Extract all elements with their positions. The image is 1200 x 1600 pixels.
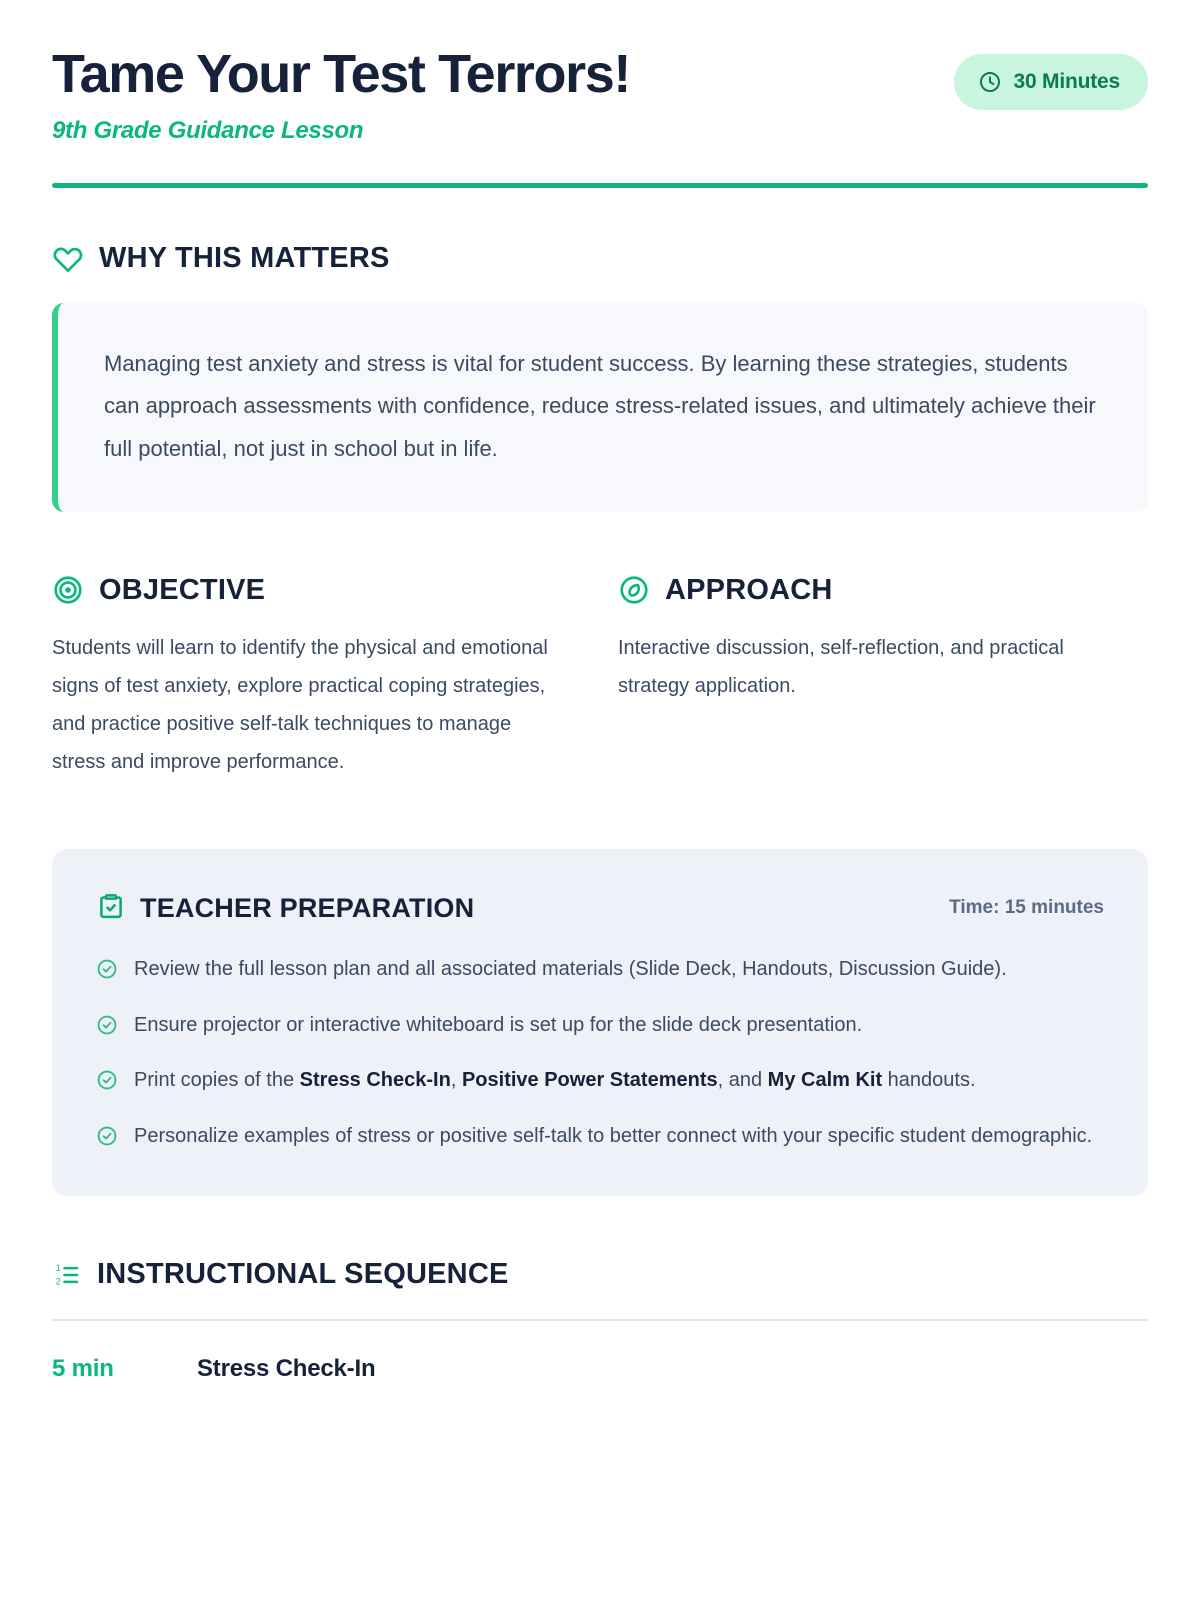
objective-column: OBJECTIVE Students will learn to identif… [52, 574, 552, 781]
target-icon [52, 574, 84, 606]
preparation-item: Personalize examples of stress or positi… [96, 1121, 1104, 1153]
teacher-preparation-list: Review the full lesson plan and all asso… [96, 954, 1104, 1152]
approach-title: APPROACH [665, 574, 833, 607]
why-this-matters-heading: WHY THIS MATTERS [52, 242, 1148, 275]
approach-body: Interactive discussion, self-reflection,… [618, 629, 1118, 705]
svg-text:2: 2 [56, 1276, 61, 1286]
clock-icon [978, 70, 1002, 94]
preparation-item: Print copies of the Stress Check-In, Pos… [96, 1065, 1104, 1097]
objective-title: OBJECTIVE [99, 574, 265, 607]
ordered-list-icon: 1 2 [52, 1260, 82, 1290]
preparation-item-text: Review the full lesson plan and all asso… [134, 954, 1007, 986]
instructional-sequence-section: 1 2 INSTRUCTIONAL SEQUENCE 5 minStress C… [52, 1258, 1148, 1383]
approach-column: APPROACH Interactive discussion, self-re… [618, 574, 1118, 781]
why-this-matters-section: WHY THIS MATTERS Managing test anxiety a… [52, 242, 1148, 512]
preparation-item: Ensure projector or interactive whiteboa… [96, 1010, 1104, 1042]
objective-body: Students will learn to identify the phys… [52, 629, 552, 781]
page-header: Tame Your Test Terrors! 9th Grade Guidan… [52, 44, 1148, 145]
preparation-item-text: Print copies of the Stress Check-In, Pos… [134, 1065, 976, 1097]
teacher-preparation-card: TEACHER PREPARATION Time: 15 minutes Rev… [52, 849, 1148, 1196]
instructional-sequence-divider [52, 1319, 1148, 1321]
objective-approach-row: OBJECTIVE Students will learn to identif… [52, 574, 1148, 781]
sequence-row: 5 minStress Check-In [52, 1355, 1148, 1383]
sequence-row-name: Stress Check-In [197, 1355, 375, 1383]
page-subtitle: 9th Grade Guidance Lesson [52, 117, 630, 145]
teacher-preparation-header: TEACHER PREPARATION Time: 15 minutes [96, 891, 1104, 926]
objective-heading: OBJECTIVE [52, 574, 552, 607]
preparation-item-text: Personalize examples of stress or positi… [134, 1121, 1092, 1153]
why-this-matters-title: WHY THIS MATTERS [99, 242, 390, 275]
lesson-plan-page: Tame Your Test Terrors! 9th Grade Guidan… [0, 0, 1200, 1600]
duration-badge-label: 30 Minutes [1013, 70, 1120, 94]
check-circle-icon [96, 1065, 118, 1097]
check-circle-icon [96, 1121, 118, 1153]
compass-icon [618, 574, 650, 606]
teacher-preparation-title-group: TEACHER PREPARATION [96, 891, 474, 926]
check-circle-icon [96, 954, 118, 986]
teacher-preparation-title: TEACHER PREPARATION [140, 893, 474, 924]
clipboard-check-icon [96, 891, 126, 926]
approach-heading: APPROACH [618, 574, 1118, 607]
instructional-sequence-heading: 1 2 INSTRUCTIONAL SEQUENCE [52, 1258, 1148, 1291]
svg-text:1: 1 [56, 1263, 61, 1273]
preparation-item-text: Ensure projector or interactive whiteboa… [134, 1010, 862, 1042]
instructional-sequence-title: INSTRUCTIONAL SEQUENCE [97, 1258, 509, 1291]
teacher-preparation-time: Time: 15 minutes [949, 897, 1104, 919]
instructional-sequence-rows: 5 minStress Check-In [52, 1355, 1148, 1383]
sequence-row-time: 5 min [52, 1355, 197, 1383]
header-divider [52, 183, 1148, 188]
header-text-group: Tame Your Test Terrors! 9th Grade Guidan… [52, 44, 630, 145]
duration-badge: 30 Minutes [954, 54, 1148, 110]
why-this-matters-body: Managing test anxiety and stress is vita… [104, 343, 1102, 470]
page-title: Tame Your Test Terrors! [52, 46, 630, 103]
check-circle-icon [96, 1010, 118, 1042]
heart-icon [52, 243, 84, 275]
preparation-item: Review the full lesson plan and all asso… [96, 954, 1104, 986]
why-this-matters-callout: Managing test anxiety and stress is vita… [52, 303, 1148, 512]
